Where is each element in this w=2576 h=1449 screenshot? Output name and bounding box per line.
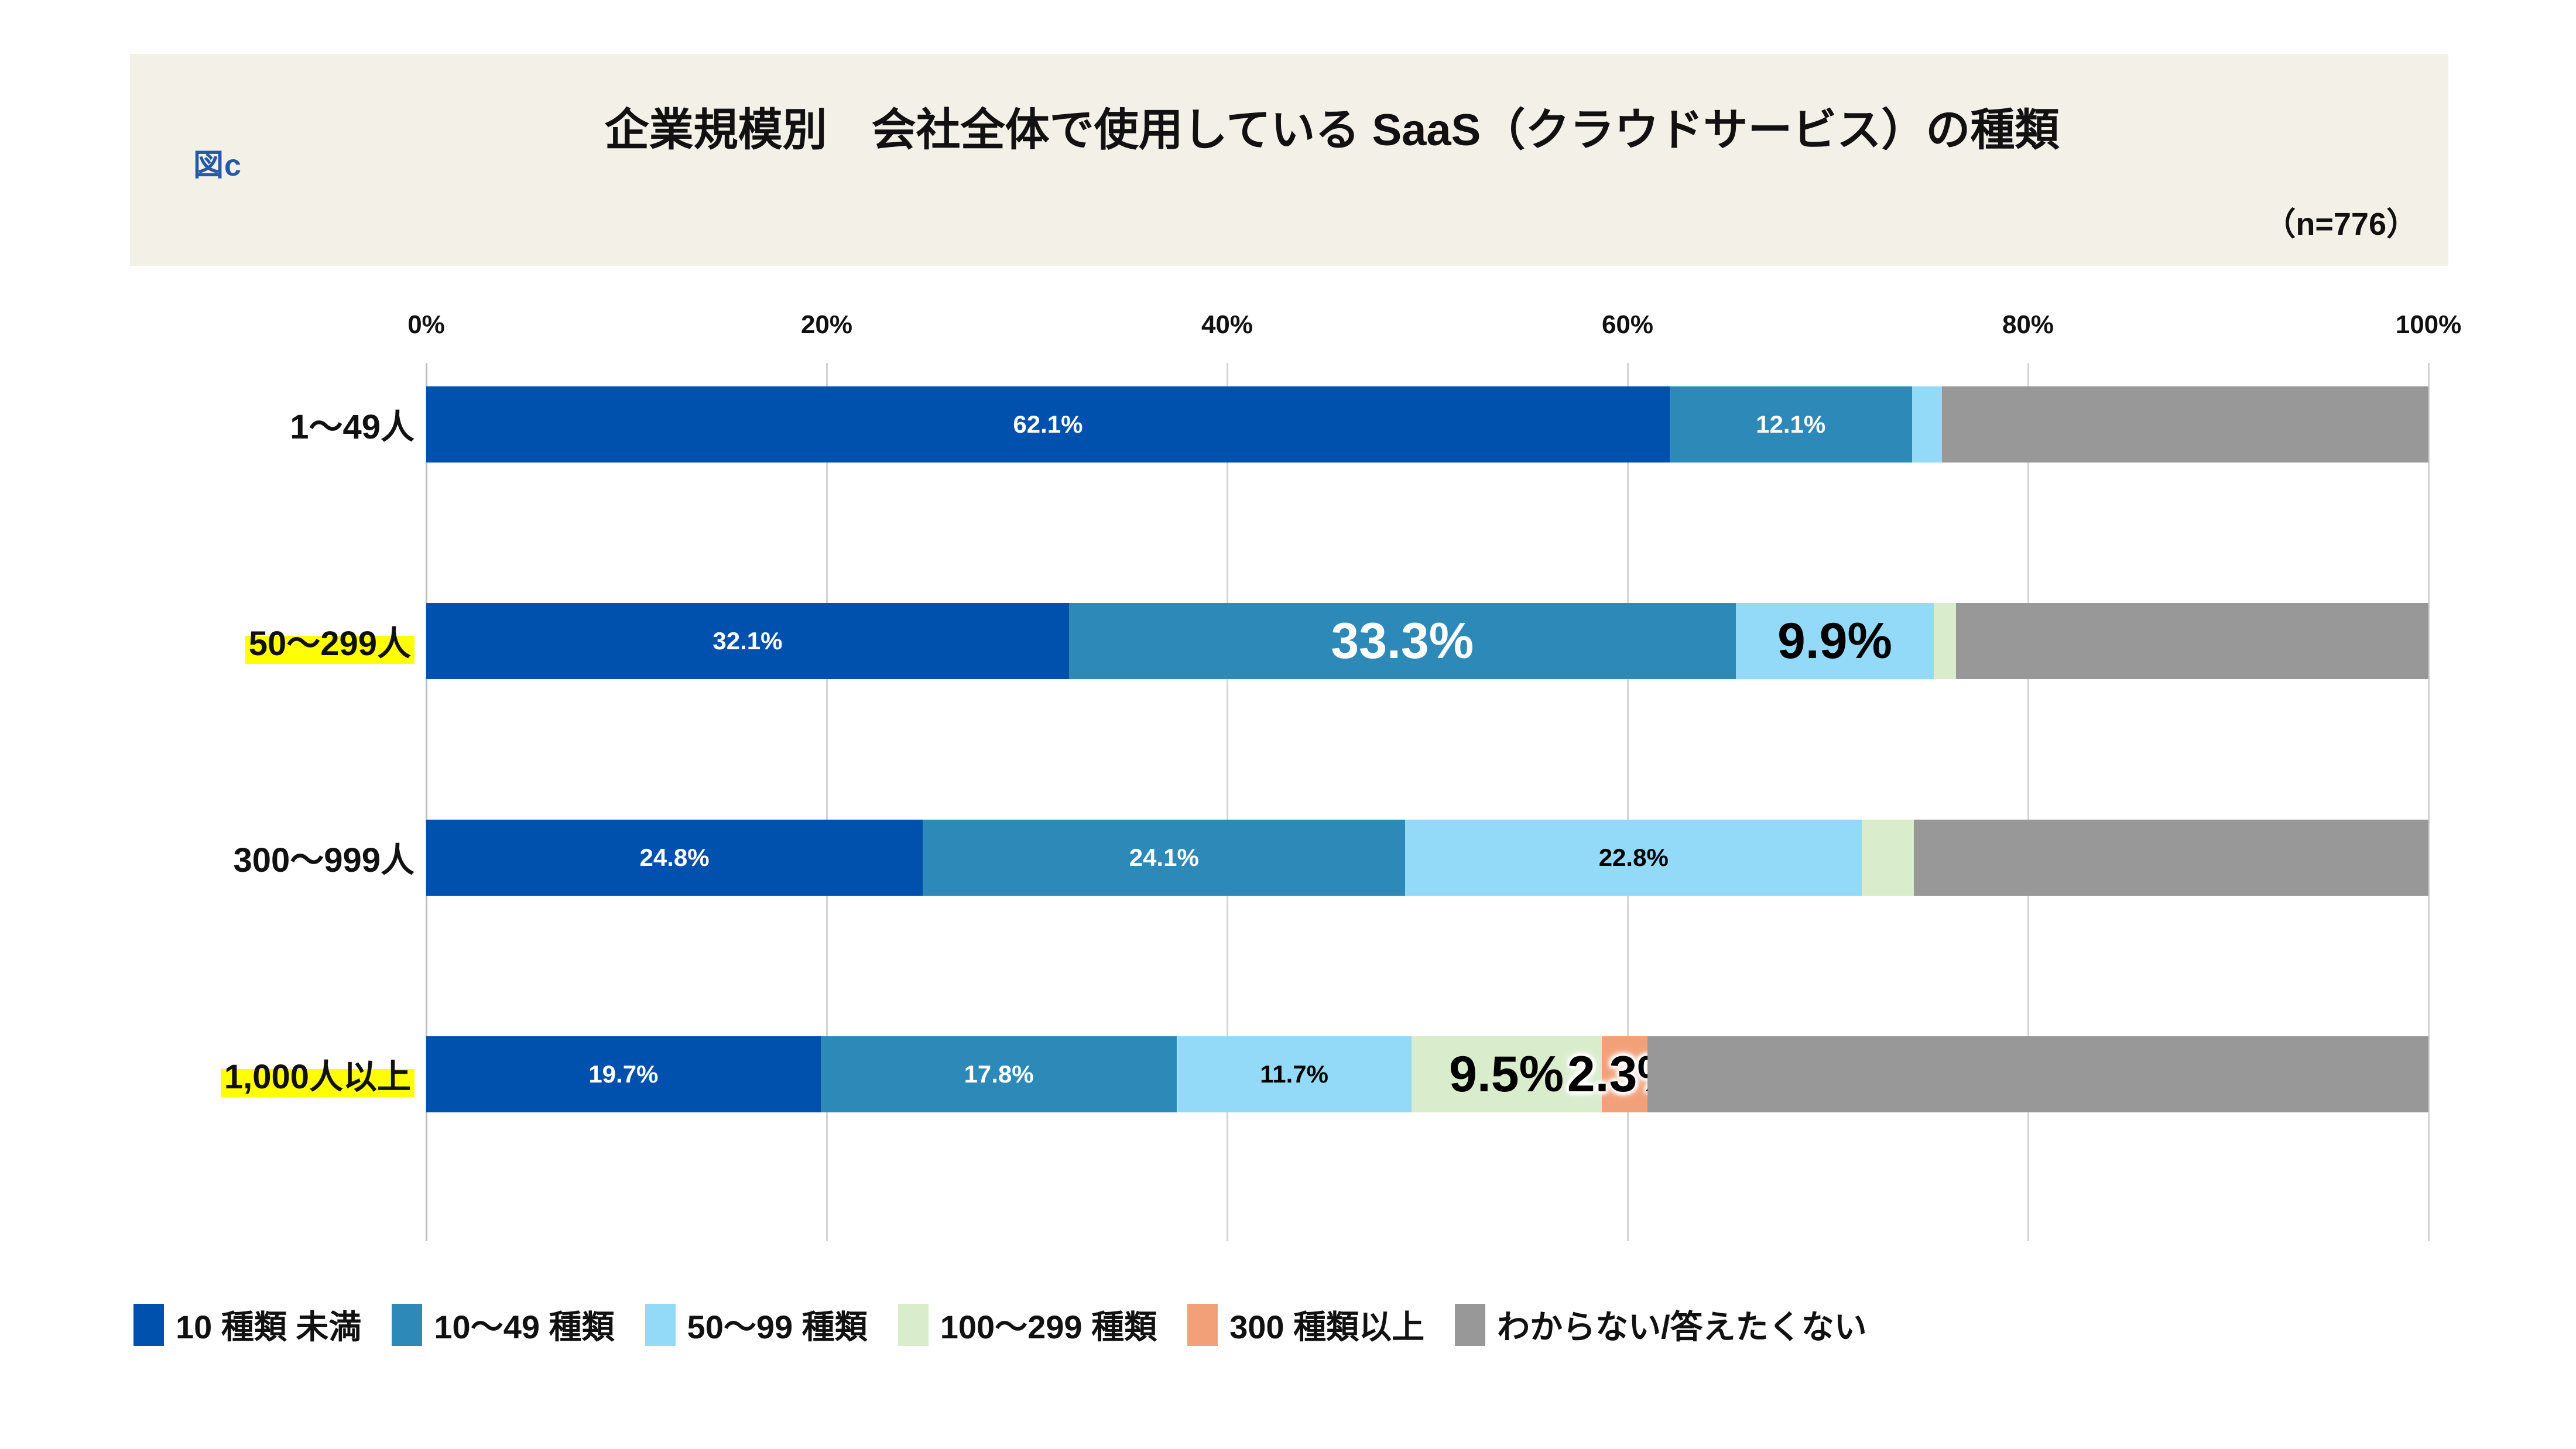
bar-segment[interactable]: 33.3% bbox=[1069, 603, 1736, 679]
legend-swatch-icon bbox=[645, 1304, 676, 1346]
legend-item[interactable]: 100〜299 種類 bbox=[898, 1301, 1157, 1348]
legend-label: 300 種類以上 bbox=[1229, 1301, 1424, 1348]
bar-segment[interactable]: 12.1% bbox=[1670, 386, 1912, 463]
legend-label: 10〜49 種類 bbox=[434, 1301, 614, 1348]
x-tick-label-80: 80% bbox=[2002, 310, 2054, 340]
legend-label: 50〜99 種類 bbox=[687, 1301, 868, 1348]
bar-segment[interactable]: 11.7% bbox=[1177, 1036, 1412, 1112]
bar-segment[interactable]: 2.3% bbox=[1602, 1036, 1648, 1112]
bar-segment[interactable]: 24.8% bbox=[426, 820, 923, 896]
legend-item[interactable]: 300 種類以上 bbox=[1187, 1301, 1424, 1348]
legend-swatch-icon bbox=[1187, 1304, 1218, 1346]
x-tick-label-20: 20% bbox=[801, 310, 852, 340]
chart-plot-area: 62.1%12.1%32.1%33.3%9.9%24.8%24.1%22.8%1… bbox=[426, 363, 2428, 1241]
bar-value-label: 9.5% bbox=[1449, 1049, 1564, 1099]
legend-swatch-icon bbox=[133, 1304, 164, 1346]
legend-label: わからない/答えたくない bbox=[1497, 1301, 1867, 1348]
bar-segment[interactable]: 24.1% bbox=[923, 820, 1405, 896]
legend-item[interactable]: わからない/答えたくない bbox=[1455, 1301, 1867, 1348]
bar-value-label: 12.1% bbox=[1756, 412, 1825, 437]
category-label-4: 1,000人以上 bbox=[40, 1049, 415, 1098]
x-tick-label-0: 0% bbox=[407, 310, 445, 340]
bar-row: 62.1%12.1% bbox=[426, 386, 2428, 463]
bar-segment[interactable] bbox=[1934, 603, 1956, 679]
category-label-3: 300〜999人 bbox=[40, 833, 415, 882]
bar-segment[interactable]: 22.8% bbox=[1405, 820, 1862, 896]
x-axis-tick-labels: 0%20%40%60%80%100% bbox=[426, 310, 2428, 345]
legend-label: 10 種類 未満 bbox=[176, 1301, 361, 1348]
legend-item[interactable]: 50〜99 種類 bbox=[645, 1301, 868, 1348]
bar-value-label: 19.7% bbox=[588, 1062, 658, 1087]
bar-value-label: 22.8% bbox=[1599, 845, 1669, 870]
category-label-text: 1〜49人 bbox=[290, 408, 415, 446]
x-tick-label-40: 40% bbox=[1201, 310, 1253, 340]
bar-row: 19.7%17.8%11.7%9.5%2.3% bbox=[426, 1036, 2428, 1112]
category-label-text: 50〜299人 bbox=[245, 616, 415, 665]
bar-segment[interactable] bbox=[1862, 820, 1914, 896]
legend-label: 100〜299 種類 bbox=[940, 1301, 1157, 1348]
category-label-2: 50〜299人 bbox=[40, 616, 415, 665]
category-label-1: 1〜49人 bbox=[40, 399, 415, 448]
bar-segment[interactable] bbox=[1942, 386, 2428, 463]
legend-swatch-icon bbox=[1455, 1304, 1485, 1346]
bar-segment[interactable] bbox=[1914, 820, 2428, 896]
x-tick-label-100: 100% bbox=[2396, 310, 2462, 340]
bar-value-label: 33.3% bbox=[1331, 616, 1474, 666]
figure-label: 図c bbox=[193, 141, 242, 184]
bar-segment[interactable]: 19.7% bbox=[426, 1036, 821, 1112]
page-title: 企業規模別 会社全体で使用している SaaS（クラウドサービス）の種類 bbox=[381, 94, 2283, 158]
bar-value-label: 32.1% bbox=[712, 629, 782, 653]
bar-segment[interactable]: 9.9% bbox=[1736, 603, 1934, 679]
legend-item[interactable]: 10 種類 未満 bbox=[133, 1301, 361, 1348]
x-tick-label-60: 60% bbox=[1602, 310, 1653, 340]
bar-value-label: 17.8% bbox=[964, 1062, 1034, 1087]
bar-segment[interactable] bbox=[1956, 603, 2428, 679]
bar-value-label: 9.9% bbox=[1777, 616, 1892, 666]
bar-value-label: 11.7% bbox=[1260, 1062, 1328, 1087]
category-label-text: 300〜999人 bbox=[233, 841, 415, 879]
bar-row: 32.1%33.3%9.9% bbox=[426, 603, 2428, 679]
bar-segment[interactable] bbox=[1647, 1036, 2428, 1112]
bar-segment[interactable]: 62.1% bbox=[426, 386, 1670, 463]
header-band bbox=[130, 54, 2448, 266]
bar-value-label: 24.1% bbox=[1129, 845, 1199, 870]
bar-value-label: 62.1% bbox=[1013, 412, 1083, 437]
category-label-text: 1,000人以上 bbox=[221, 1049, 415, 1098]
chart-legend: 10 種類 未満10〜49 種類50〜99 種類100〜299 種類300 種類… bbox=[133, 1301, 1897, 1348]
bar-segment[interactable]: 17.8% bbox=[821, 1036, 1177, 1112]
sample-size-label: （n=776） bbox=[2264, 198, 2418, 244]
bar-value-label: 24.8% bbox=[640, 845, 710, 870]
legend-swatch-icon bbox=[392, 1304, 422, 1346]
legend-item[interactable]: 10〜49 種類 bbox=[392, 1301, 614, 1348]
legend-swatch-icon bbox=[898, 1304, 929, 1346]
bar-row: 24.8%24.1%22.8% bbox=[426, 820, 2428, 896]
bar-segment[interactable] bbox=[1912, 386, 1942, 463]
bar-segment[interactable]: 32.1% bbox=[426, 603, 1069, 679]
